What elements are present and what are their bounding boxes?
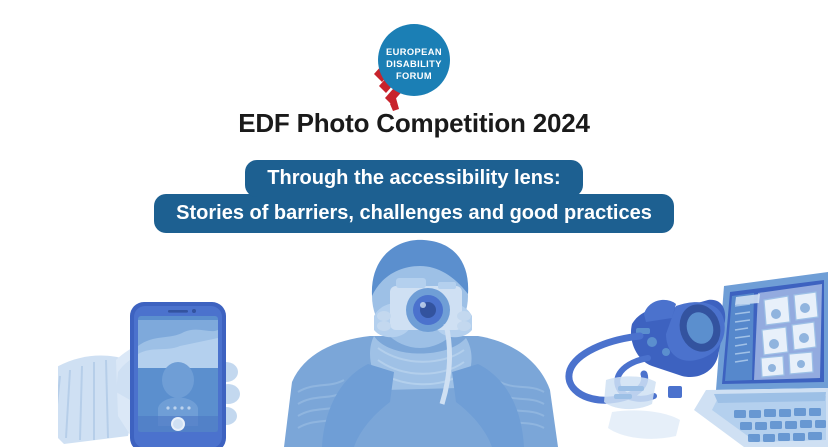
edf-photo-competition-poster: EUROPEAN DISABILITY FORUM EDF Photo Comp…	[0, 0, 828, 447]
photo-camera-and-laptop	[548, 270, 828, 447]
banner-line-2: Stories of barriers, challenges and good…	[154, 194, 674, 233]
logo-svg: EUROPEAN DISABILITY FORUM	[362, 16, 466, 112]
logo-text-line3: FORUM	[396, 71, 432, 81]
page-title: EDF Photo Competition 2024	[0, 108, 828, 139]
photo-hand-holding-smartphone	[58, 276, 288, 447]
photo-person-with-camera	[278, 232, 568, 447]
logo-text-line2: DISABILITY	[386, 59, 442, 69]
banner: Through the accessibility lens: Stories …	[0, 160, 828, 233]
european-disability-forum-logo: EUROPEAN DISABILITY FORUM	[362, 16, 466, 112]
banner-line-1: Through the accessibility lens:	[245, 160, 582, 197]
photo-strip	[0, 232, 828, 447]
logo-text-line1: EUROPEAN	[386, 47, 442, 57]
